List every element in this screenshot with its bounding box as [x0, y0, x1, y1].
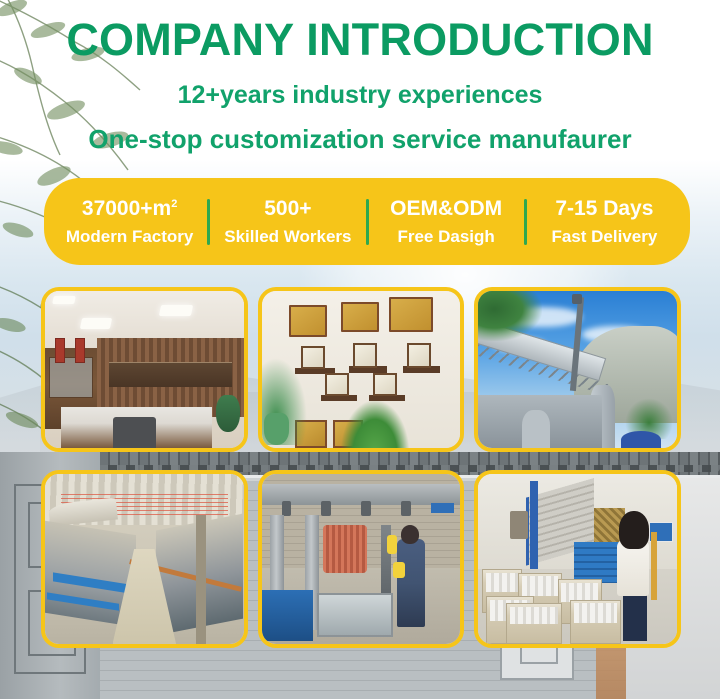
stats-banner: 37000+m2 Modern Factory 500+ Skilled Wor… [44, 178, 690, 265]
office-potted-plant [216, 395, 240, 433]
warehouse-yellow-post [651, 532, 657, 600]
award-plaque-2 [341, 302, 379, 332]
packing-box-6 [570, 600, 622, 644]
certificate-frame-3 [407, 343, 431, 368]
stat-label-free-design: Free Dasigh [371, 226, 522, 247]
certificate-room-grass-plant [341, 401, 409, 448]
warehouse-steel-beam [530, 481, 538, 569]
worker-woman-hair [619, 511, 649, 548]
crane-head [572, 294, 582, 303]
photo-card-office-showroom [41, 287, 248, 452]
office-company-signboard [109, 362, 232, 387]
blue-umbrella [621, 431, 661, 448]
packed-products-1 [486, 573, 519, 592]
packing-box-4 [506, 603, 562, 644]
office-wall-scroll-1 [55, 338, 65, 363]
stat-label-skilled-workers: Skilled Workers [212, 226, 363, 247]
photo-card-certificate-wall [258, 287, 465, 452]
workshop-wall-sign [431, 503, 455, 513]
stat-value-area-number: 37000+m [82, 197, 171, 220]
photo-packing-warehouse [478, 474, 677, 644]
office-ceiling-light-1 [80, 318, 112, 329]
page-header: COMPANY INTRODUCTION 12+years industry e… [0, 0, 720, 157]
photo-worker-plating-tank [262, 474, 461, 644]
photo-card-packing-warehouse [474, 470, 681, 648]
plant-storage-tank [522, 410, 550, 448]
worker-glove-right [393, 562, 405, 577]
packed-products-3 [522, 576, 559, 595]
certificate-room-vase [264, 413, 290, 444]
certificate-frame-5 [373, 373, 397, 397]
certificate-frame-2 [353, 343, 377, 368]
company-introduction-page: COMPANY INTRODUCTION 12+years industry e… [0, 0, 720, 699]
office-ceiling-light-2 [159, 305, 193, 316]
stat-label-modern-factory: Modern Factory [54, 226, 205, 247]
photo-factory-exterior [478, 291, 677, 448]
stat-label-fast-delivery: Fast Delivery [529, 226, 680, 247]
certificate-frame-4 [325, 373, 349, 397]
office-monitor [113, 417, 157, 448]
photo-card-factory-exterior [474, 287, 681, 452]
photo-card-plating-line [41, 470, 248, 648]
exterior-tree-foliage [478, 291, 542, 341]
stat-value-area: 37000+m2 [54, 196, 205, 222]
worker-woman-legs [623, 590, 647, 641]
hoist-unit-4 [401, 501, 411, 516]
subtitle-service: One-stop customization service manufaure… [0, 122, 720, 157]
award-plaque-1 [289, 305, 327, 336]
stat-oem-odm: OEM&ODM Free Dasigh [369, 196, 524, 247]
page-title: COMPANY INTRODUCTION [0, 16, 720, 65]
office-wall-scroll-2 [75, 338, 85, 363]
award-plaque-3 [389, 297, 433, 332]
stat-value-oem-odm: OEM&ODM [371, 196, 522, 222]
photo-office-showroom [45, 291, 244, 448]
stat-delivery-time: 7-15 Days Fast Delivery [527, 196, 682, 247]
photo-card-worker-plating-tank [258, 470, 465, 648]
hoist-unit-2 [321, 501, 331, 516]
rinse-tank [317, 593, 392, 637]
photo-gallery [41, 287, 681, 648]
photo-plating-line [45, 474, 244, 644]
stat-modern-factory: 37000+m2 Modern Factory [52, 196, 207, 247]
photo-certificate-wall [262, 291, 461, 448]
worker-glove-left [387, 535, 397, 554]
stat-value-area-superscript: 2 [171, 198, 177, 210]
stat-value-delivery-days: 7-15 Days [529, 196, 680, 222]
stat-skilled-workers: 500+ Skilled Workers [210, 196, 365, 247]
worker-body [397, 539, 425, 627]
subtitle-experience: 12+years industry experiences [0, 79, 720, 113]
stat-value-workers: 500+ [212, 196, 363, 222]
workshop-support-post [196, 515, 206, 644]
office-ceiling-light-3 [52, 296, 76, 304]
warehouse-lantern [510, 511, 528, 538]
hoist-unit-3 [361, 501, 371, 516]
worker-head [401, 525, 419, 544]
blue-process-tank [262, 590, 314, 641]
packed-products-6 [574, 603, 618, 622]
packed-products-4 [510, 607, 557, 625]
copper-parts-bundle [323, 525, 367, 573]
